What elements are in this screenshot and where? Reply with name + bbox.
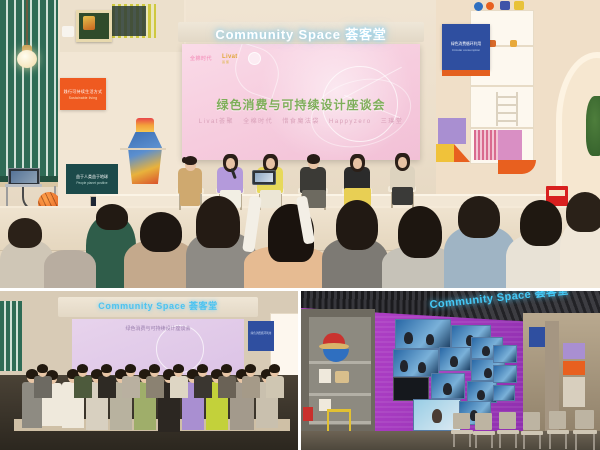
brand-name: 全棉时代 — [243, 119, 273, 125]
shelf-line — [471, 127, 533, 129]
sustainable-living-sign: 践行可持续生活方式 Sustainable living — [60, 78, 106, 110]
color-block-yellow — [436, 144, 454, 162]
chair-leg — [515, 434, 517, 448]
person-body — [122, 376, 140, 398]
toy-block — [500, 1, 510, 10]
color-block-pink — [498, 130, 522, 160]
chair-back — [453, 413, 470, 429]
brand-name: 惜食魔法袋 — [282, 119, 320, 125]
screen-brand-list: Livat荟聚 全棉时代 惜食魔法袋 Happyzero 三璞堂 — [182, 116, 420, 125]
livat-logo-text: Livat — [222, 54, 238, 60]
bl-venue-banner-text: Community Space 荟客堂 — [58, 299, 258, 312]
sign-line1: 绿色消费循环利用 — [451, 42, 481, 47]
folding-chair — [547, 411, 569, 449]
shelf-line — [120, 148, 166, 150]
audience-hair — [336, 200, 378, 250]
bl-green-wall — [0, 301, 22, 371]
person-body — [194, 376, 212, 398]
video-tile — [395, 319, 451, 349]
shelf-line — [471, 85, 533, 87]
video-tile — [493, 345, 517, 363]
chair-back — [549, 411, 566, 429]
person-body — [34, 376, 52, 398]
shelf-label-card — [319, 369, 331, 383]
brand-name: Happyzero — [329, 119, 372, 125]
panel-bottom-right-led-wall: Community Space 荟客堂 — [301, 291, 600, 450]
plant-icon — [586, 96, 600, 156]
person-body — [98, 376, 116, 398]
livat-logo-sub: 荟聚 — [222, 60, 238, 64]
toy-ball — [486, 2, 494, 10]
person-hair — [101, 364, 112, 373]
green-striped-wall — [0, 0, 62, 180]
toy-figure — [510, 40, 517, 47]
main-presentation-screen: 全棉时代 Livat 荟聚 绿色消费与可持续设计座谈会 Livat荟聚 全棉时代… — [182, 44, 420, 160]
panel-top-discussion: 践行可持续生活方式 Sustainable living 益于人类益于地球 Pe… — [0, 0, 600, 288]
brand-name: 三璞堂 — [381, 119, 404, 125]
group-person — [194, 364, 212, 398]
br-blue-sign — [529, 327, 545, 347]
video-tile — [439, 347, 471, 371]
chair-back — [523, 412, 540, 430]
audience-hair — [520, 200, 562, 246]
partner-badge-icon — [248, 52, 261, 65]
person-hair — [269, 364, 280, 373]
person-body — [146, 376, 164, 398]
circular-consumption-sign: 绿色消费循环利用 Circular consumption — [442, 24, 490, 70]
sign-line2: People planet positive — [76, 181, 107, 185]
chair-leg — [565, 434, 567, 449]
folding-chair — [473, 413, 495, 448]
group-person — [266, 364, 284, 398]
chair-leg — [453, 434, 455, 447]
panelist-legs — [180, 190, 200, 206]
chair-leg — [469, 434, 471, 447]
dark-shelf-panel — [112, 6, 146, 36]
toy-block — [514, 1, 524, 10]
pendant-lamp-icon — [17, 50, 37, 68]
chair-leg — [593, 434, 595, 450]
brand-name: Livat荟聚 — [199, 119, 234, 125]
cotton-time-logo: 全棉时代 — [190, 55, 212, 62]
panelist-face — [398, 157, 407, 168]
smartphone-icon — [252, 170, 276, 185]
group-person — [34, 364, 52, 398]
panelist-face — [266, 158, 275, 169]
person-hair — [37, 364, 48, 373]
panelist-hair — [307, 154, 320, 164]
mini-ladder-prop — [496, 92, 518, 126]
chair-back — [575, 410, 594, 429]
bl-sign-text: 绿色消费循环利用 — [248, 331, 274, 335]
chair-leg — [539, 435, 541, 449]
color-block-purple — [563, 343, 585, 359]
person-hair — [197, 364, 208, 373]
toy-ball — [474, 2, 483, 11]
chair-leg — [549, 434, 551, 449]
person-hair — [221, 364, 232, 373]
audience-hair — [566, 192, 600, 232]
group-person — [146, 364, 164, 398]
audience-hair — [398, 206, 442, 258]
sign-line2: Sustainable living — [69, 96, 97, 100]
framed-artwork — [76, 10, 112, 42]
group-person — [74, 364, 92, 398]
panelist-legs — [260, 190, 281, 208]
sign-stand — [442, 70, 490, 76]
audience-hair — [458, 196, 500, 238]
group-person — [218, 364, 236, 398]
person-body — [242, 376, 260, 398]
person-hair — [77, 364, 88, 373]
person-hair — [173, 364, 184, 373]
audience-member — [44, 250, 96, 288]
bl-circular-consumption-sign — [248, 321, 274, 351]
person-body — [170, 376, 188, 398]
panelist-face — [353, 158, 362, 169]
mannequin-garment — [128, 132, 162, 184]
people-planet-positive-sign: 益于人类益于地球 People planet positive — [66, 164, 118, 194]
folding-chair — [451, 413, 473, 447]
person-hair — [125, 364, 136, 373]
chair-leg — [575, 434, 577, 450]
chair-leg — [475, 435, 477, 448]
cup-prop — [62, 26, 74, 37]
shelf-line — [309, 393, 371, 396]
red-container-prop — [303, 407, 313, 421]
venue-banner-text: Community Space 荟客堂 — [178, 24, 424, 43]
chair-back — [499, 412, 516, 429]
person-body — [266, 376, 284, 398]
audience-hair — [140, 212, 182, 252]
group-person — [122, 364, 140, 398]
folding-chair — [521, 412, 543, 449]
group-person — [170, 364, 188, 398]
striped-block — [474, 130, 498, 160]
panelist-bun — [182, 157, 187, 163]
person-hair — [149, 364, 160, 373]
shelf-line — [309, 361, 371, 364]
audience-hair — [196, 196, 240, 248]
video-tile — [493, 365, 517, 383]
screen-title: 绿色消费与可持续设计座谈会 — [182, 96, 420, 113]
group-person — [98, 364, 116, 398]
sign-line1: 益于人类益于地球 — [76, 174, 108, 180]
group-person — [242, 364, 260, 398]
panelist-face — [226, 158, 235, 169]
chair-leg — [499, 434, 501, 448]
panel-bottom-left-group-photo: Community Space 荟客堂 绿色消费与可持续设计座谈会 绿色消费循环… — [0, 291, 298, 450]
folding-chair — [497, 412, 519, 448]
chair-back — [475, 413, 492, 430]
panelist-6 — [386, 152, 420, 208]
mannequin-head — [136, 118, 154, 134]
panelist-legs — [392, 187, 413, 205]
person-body — [218, 376, 236, 398]
audience-hair — [96, 204, 128, 230]
person-body — [74, 376, 92, 398]
sign-line2: Circular consumption — [452, 48, 480, 52]
screenshot-root: 践行可持续生活方式 Sustainable living 益于人类益于地球 Pe… — [0, 0, 600, 450]
livat-logo: Livat 荟聚 — [222, 54, 238, 64]
folding-chairs-row — [451, 395, 600, 450]
color-block-orange — [563, 361, 585, 375]
person-hair — [245, 364, 256, 373]
color-block-purple — [438, 118, 466, 144]
bl-screen-title: 绿色消费与可持续设计座谈会 — [72, 325, 244, 332]
chair-leg — [491, 435, 493, 448]
audience-hair — [8, 218, 42, 248]
folding-chair — [573, 410, 597, 450]
sign-line1: 践行可持续生活方式 — [64, 89, 103, 95]
chair-leg — [523, 435, 525, 449]
video-tile — [393, 377, 429, 401]
screen-logo-row: 全棉时代 Livat 荟聚 — [190, 52, 261, 65]
basket-prop — [335, 371, 349, 383]
mannequin-display — [128, 118, 162, 184]
